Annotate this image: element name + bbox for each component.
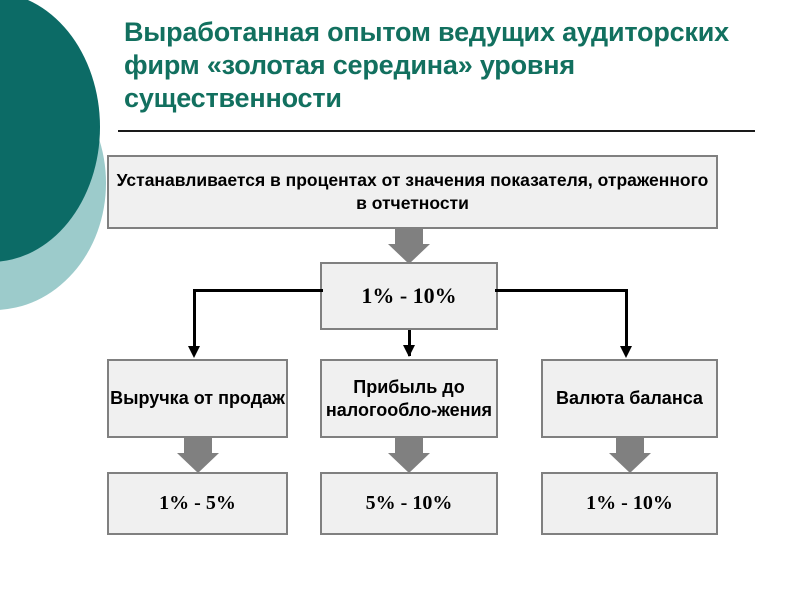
flow-box-metric-3: Валюта баланса xyxy=(541,359,718,438)
flow-box-value-3: 1% - 10% xyxy=(541,472,718,535)
flow-box-metric-2: Прибыль до налогообло-жения xyxy=(320,359,498,438)
flow-box-metric-1-label: Выручка от продаж xyxy=(109,387,286,410)
block-arrow-head xyxy=(388,453,430,473)
decorative-circle-light xyxy=(0,56,106,310)
title-divider xyxy=(118,130,755,132)
flow-box-value-2: 5% - 10% xyxy=(320,472,498,535)
flow-box-value-1: 1% - 5% xyxy=(107,472,288,535)
block-arrow-head xyxy=(609,453,651,473)
connector-arrowhead-right-icon xyxy=(620,346,632,358)
connector-arrowhead-middle-icon xyxy=(403,345,415,357)
block-arrow-head xyxy=(388,244,430,264)
block-arrow-down-metric-3 xyxy=(596,438,664,474)
flow-box-range-label: 1% - 10% xyxy=(322,283,496,309)
connector-line-middle-vertical xyxy=(408,330,411,356)
flow-box-top-statement: Устанавливается в процентах от значения … xyxy=(107,155,718,229)
slide-canvas: Выработанная опытом ведущих аудиторских … xyxy=(0,0,800,600)
block-arrow-shaft xyxy=(395,438,423,454)
flow-box-metric-3-label: Валюта баланса xyxy=(543,387,716,410)
decorative-circle-dark xyxy=(0,0,100,262)
flow-box-value-3-label: 1% - 10% xyxy=(543,492,716,515)
block-arrow-shaft xyxy=(395,229,423,245)
flow-box-top-statement-label: Устанавливается в процентах от значения … xyxy=(109,169,716,215)
flow-box-value-2-label: 5% - 10% xyxy=(322,492,496,515)
block-arrow-down-metric-1 xyxy=(164,438,232,474)
block-arrow-head xyxy=(177,453,219,473)
page-title: Выработанная опытом ведущих аудиторских … xyxy=(124,16,764,115)
block-arrow-shaft xyxy=(184,438,212,454)
block-arrow-down-top-to-range xyxy=(375,229,443,265)
flow-box-range: 1% - 10% xyxy=(320,262,498,330)
flow-box-metric-1: Выручка от продаж xyxy=(107,359,288,438)
connector-line-left-horizontal xyxy=(193,289,323,292)
connector-line-right-vertical xyxy=(625,289,628,347)
block-arrow-shaft xyxy=(616,438,644,454)
flow-box-metric-2-label: Прибыль до налогообло-жения xyxy=(322,376,496,422)
connector-arrowhead-left-icon xyxy=(188,346,200,358)
flow-box-value-1-label: 1% - 5% xyxy=(109,492,286,515)
connector-line-left-vertical xyxy=(193,289,196,347)
block-arrow-down-metric-2 xyxy=(375,438,443,474)
connector-line-right-horizontal xyxy=(495,289,628,292)
